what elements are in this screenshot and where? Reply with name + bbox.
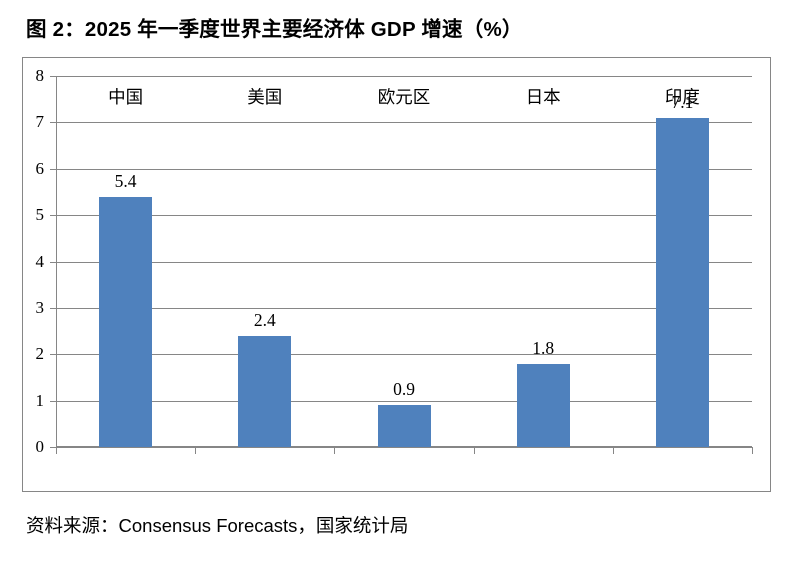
bar-value-label: 1.8 xyxy=(532,338,554,359)
gridline xyxy=(56,76,752,77)
gridline xyxy=(56,262,752,263)
bar-日本[interactable] xyxy=(517,364,570,447)
gridline xyxy=(56,447,752,448)
x-axis-tick-mark xyxy=(195,447,196,454)
bar-value-label: 5.4 xyxy=(115,171,137,192)
gridline xyxy=(56,169,752,170)
y-axis-tick-mark xyxy=(50,215,56,216)
y-axis-tick-mark xyxy=(50,169,56,170)
chart-frame: 0123456785.4中国2.4美国0.9欧元区1.8日本7.1印度 xyxy=(22,57,771,492)
x-axis-category-label: 欧元区 xyxy=(378,84,431,109)
figure-source: 资料来源：Consensus Forecasts，国家统计局 xyxy=(26,512,408,538)
gridline xyxy=(56,401,752,402)
x-axis-tick-mark xyxy=(474,447,475,454)
x-axis-category-label: 美国 xyxy=(247,84,282,109)
chart-plot-area: 0123456785.4中国2.4美国0.9欧元区1.8日本7.1印度 xyxy=(56,76,752,447)
y-axis-tick-label: 0 xyxy=(18,437,44,457)
y-axis-tick-mark xyxy=(50,308,56,309)
bar-美国[interactable] xyxy=(238,336,291,447)
gridline xyxy=(56,308,752,309)
x-axis-category-label: 中国 xyxy=(108,84,143,109)
y-axis-tick-label: 8 xyxy=(18,66,44,86)
x-axis-category-label: 日本 xyxy=(526,84,561,109)
figure-title: 图 2：2025 年一季度世界主要经济体 GDP 增速（%） xyxy=(26,12,523,42)
figure-container: 图 2：2025 年一季度世界主要经济体 GDP 增速（%） 012345678… xyxy=(0,0,798,562)
x-axis-tick-mark xyxy=(56,447,57,454)
x-axis-tick-mark xyxy=(334,447,335,454)
y-axis-tick-mark xyxy=(50,122,56,123)
y-axis-tick-mark xyxy=(50,262,56,263)
y-axis-tick-label: 7 xyxy=(18,112,44,132)
y-axis-tick-label: 2 xyxy=(18,344,44,364)
bar-印度[interactable] xyxy=(656,118,709,447)
y-axis-tick-mark xyxy=(50,354,56,355)
gridline xyxy=(56,354,752,355)
bar-中国[interactable] xyxy=(99,197,152,447)
x-axis-tick-mark xyxy=(613,447,614,454)
bar-value-label: 0.9 xyxy=(393,379,415,400)
x-axis-tick-mark xyxy=(752,447,753,454)
y-axis-tick-label: 5 xyxy=(18,205,44,225)
y-axis-tick-mark xyxy=(50,401,56,402)
bar-value-label: 2.4 xyxy=(254,310,276,331)
gridline xyxy=(56,215,752,216)
y-axis-tick-mark xyxy=(50,76,56,77)
y-axis-tick-label: 6 xyxy=(18,159,44,179)
y-axis-tick-label: 1 xyxy=(18,391,44,411)
gridline xyxy=(56,122,752,123)
y-axis-tick-label: 4 xyxy=(18,252,44,272)
bar-欧元区[interactable] xyxy=(378,405,431,447)
y-axis-tick-label: 3 xyxy=(18,298,44,318)
x-axis-category-label: 印度 xyxy=(665,84,700,109)
